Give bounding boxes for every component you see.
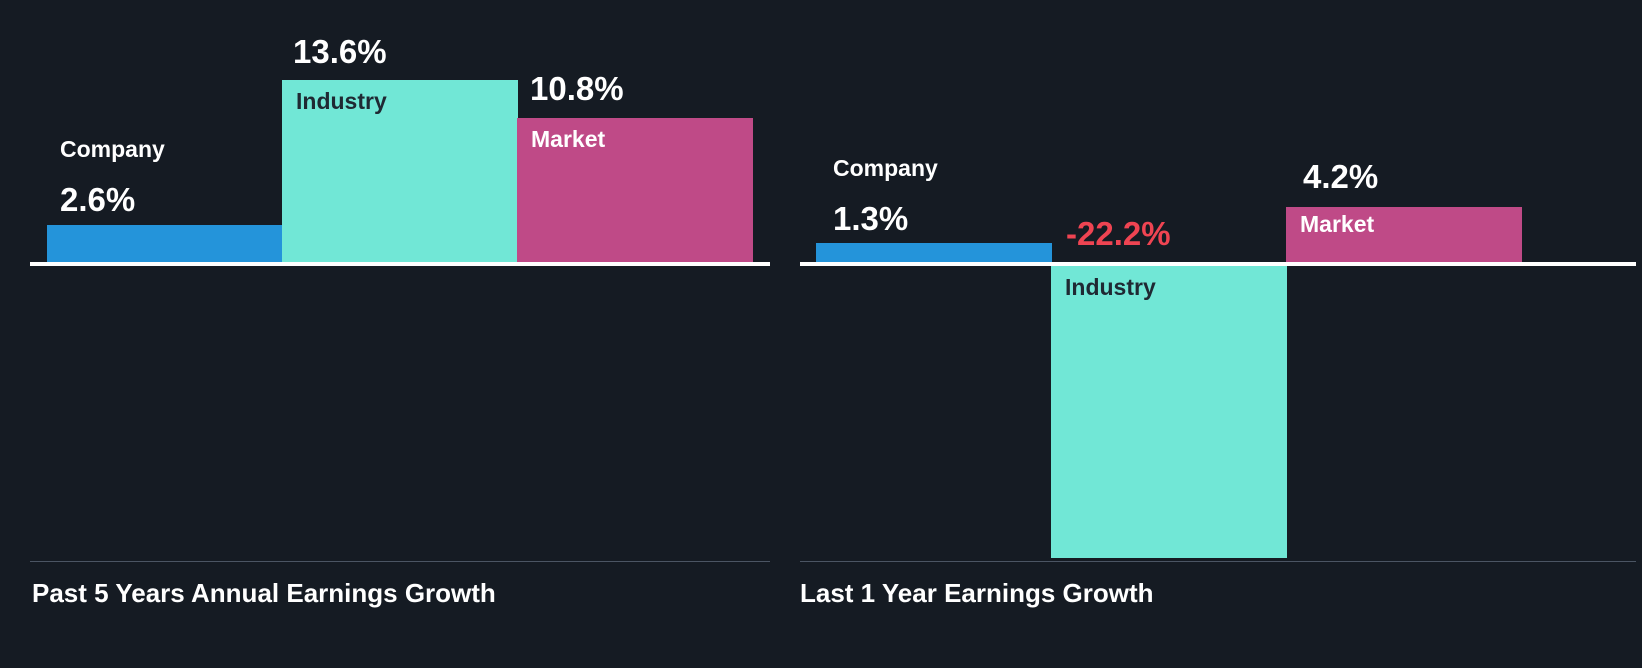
bar-industry-right[interactable]: Industry (1051, 266, 1287, 558)
bar-company-right[interactable] (816, 243, 1052, 263)
bar-series-label-market: Market (531, 126, 605, 153)
chart-panel-last-1-year: Company 1.3% -22.2% Industry 4.2% Market… (800, 0, 1642, 668)
zero-baseline-right (800, 262, 1636, 266)
plot-area-left: Company 2.6% 13.6% Industry 10.8% Market (0, 0, 800, 560)
caption-divider-left (30, 561, 770, 562)
bar-company-left[interactable] (47, 225, 283, 263)
bar-market-left[interactable]: Market (517, 118, 753, 263)
bar-industry-left[interactable]: Industry (282, 80, 518, 263)
chart-panel-past-5-years: Company 2.6% 13.6% Industry 10.8% Market… (0, 0, 800, 668)
value-label-market: 10.8% (530, 70, 624, 108)
earnings-growth-chart-figure: Company 2.6% 13.6% Industry 10.8% Market… (0, 0, 1642, 668)
value-label-market: 4.2% (1303, 158, 1378, 196)
bar-series-label-market: Market (1300, 211, 1374, 238)
annotation-market-right: 4.2% (1303, 158, 1378, 196)
series-label-company: Company (60, 136, 165, 163)
chart-caption-last-1-year: Last 1 Year Earnings Growth (800, 578, 1154, 609)
plot-area-right: Company 1.3% -22.2% Industry 4.2% Market (800, 0, 1642, 560)
series-label-company: Company (833, 155, 938, 182)
annotation-industry-left: 13.6% (293, 33, 387, 71)
value-label-industry: 13.6% (293, 33, 387, 71)
annotation-company-left: Company 2.6% (60, 136, 165, 219)
zero-baseline-left (30, 262, 770, 266)
chart-caption-past-5-years: Past 5 Years Annual Earnings Growth (32, 578, 496, 609)
value-label-company: 2.6% (60, 181, 165, 219)
annotation-industry-right: -22.2% (1066, 215, 1171, 253)
bar-market-right[interactable]: Market (1286, 207, 1522, 263)
value-label-company: 1.3% (833, 200, 938, 238)
annotation-company-right: Company 1.3% (833, 155, 938, 238)
bar-series-label-industry: Industry (296, 88, 387, 115)
bar-series-label-industry: Industry (1065, 274, 1156, 301)
caption-divider-right (800, 561, 1636, 562)
annotation-market-left: 10.8% (530, 70, 624, 108)
value-label-industry: -22.2% (1066, 215, 1171, 253)
